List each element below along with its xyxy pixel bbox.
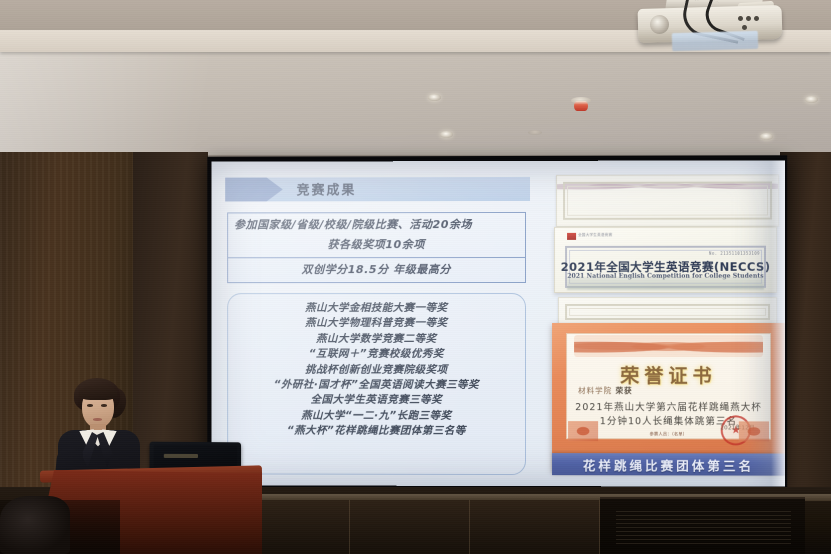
list-item: “外研社·国才杯”全国英语阅读大赛三等奖 bbox=[234, 378, 519, 394]
caption-text: 花样跳绳比赛团体第三名 bbox=[583, 455, 754, 474]
recessed-downlight bbox=[440, 131, 453, 138]
screen-right-washout bbox=[771, 160, 785, 486]
list-item: 全国大学生英语竞赛三等奖 bbox=[234, 393, 519, 409]
recessed-downlight bbox=[805, 96, 818, 103]
photo-scene: 竞赛成果 参加国家级/省级/校级/院级比赛、活动20余场 获各级奖项10余项 双… bbox=[0, 0, 831, 554]
honor-recipient: 材料学院 荣获 bbox=[578, 385, 633, 396]
slide-header-band: 竞赛成果 bbox=[231, 177, 530, 202]
ceiling-vent bbox=[528, 130, 542, 135]
summary-line-2: 获各级奖项10余项 bbox=[228, 237, 525, 257]
neccs-logo-icon bbox=[567, 233, 576, 240]
list-item: 燕山大学“一二·九”长跑三等奖 bbox=[234, 409, 519, 425]
awards-list: 燕山大学金相技能大赛一等奖 燕山大学物理科普竞赛一等奖 燕山大学数学竞赛二等奖 … bbox=[227, 293, 526, 475]
certificate-honor: 荣誉证书 材料学院 荣获 2021年燕山大学第六届花样跳绳燕大杯 1分钟10人长… bbox=[552, 323, 785, 472]
chevron-right-icon bbox=[225, 177, 283, 201]
recessed-downlight bbox=[428, 94, 441, 101]
list-item: 燕山大学物理科普竞赛一等奖 bbox=[234, 316, 519, 331]
smoke-detector-body bbox=[574, 101, 588, 111]
presenter-eye bbox=[101, 404, 107, 407]
honor-line-1: 2021年燕山大学第六届花样跳绳燕大杯 bbox=[552, 399, 785, 413]
list-item: 燕山大学数学竞赛二等奖 bbox=[234, 332, 519, 347]
slide-right-column: 全国大学生英语竞赛 No. 21351101353109 2021年全国大学生英… bbox=[542, 170, 773, 478]
wainscot-panel bbox=[470, 500, 600, 554]
neccs-number-value: 21351101353109 bbox=[720, 251, 760, 256]
certificate-inner-border-2 bbox=[569, 308, 766, 316]
summary-box: 参加国家级/省级/校级/院级比赛、活动20余场 获各级奖项10余项 双创学分18… bbox=[227, 212, 526, 283]
presenter-eye bbox=[87, 404, 93, 407]
honor-recipient-prefix: 材料学院 bbox=[578, 386, 612, 395]
neccs-number-label: No. bbox=[709, 251, 717, 256]
honor-recipient-suffix: 荣获 bbox=[616, 386, 633, 395]
smoke-detector bbox=[571, 97, 591, 114]
list-item: 挑战杯创新创业竞赛院级奖项 bbox=[234, 362, 519, 378]
wainscot-panel bbox=[350, 500, 470, 554]
certificate-inner-border-2 bbox=[567, 185, 768, 215]
projector-port bbox=[754, 16, 759, 21]
certificate-neccs: 全国大学生英语竞赛 No. 21351101353109 2021年全国大学生英… bbox=[554, 227, 777, 293]
laptop-badge bbox=[164, 454, 198, 458]
rear-dark-cabinet bbox=[600, 497, 805, 554]
ceiling-main-plane bbox=[0, 50, 831, 158]
list-item: “燕大杯”花样跳绳比赛团体第三名等 bbox=[234, 424, 519, 440]
projector-light-output bbox=[672, 31, 758, 51]
neccs-brand-text: 全国大学生英语竞赛 bbox=[578, 233, 612, 238]
presenter-mouth bbox=[93, 418, 102, 421]
projection-screen: 竞赛成果 参加国家级/省级/校级/院级比赛、活动20余场 获各级奖项10余项 双… bbox=[211, 160, 785, 486]
summary-line-1: 参加国家级/省级/校级/院级比赛、活动20余场 bbox=[228, 213, 525, 237]
slide-title: 竞赛成果 bbox=[297, 179, 357, 198]
list-item: 燕山大学金相技能大赛一等奖 bbox=[234, 301, 519, 316]
presenter-bangs bbox=[79, 385, 117, 400]
recessed-downlight bbox=[760, 133, 773, 140]
neccs-mount-shadow bbox=[567, 277, 764, 290]
slide-left-column: 竞赛成果 参加国家级/省级/校级/院级比赛、活动20余场 获各级奖项10余项 双… bbox=[223, 171, 542, 478]
foreground-chair bbox=[0, 496, 70, 554]
list-item: “互联网＋”竞赛校级优秀奖 bbox=[234, 347, 519, 363]
presentation-slide: 竞赛成果 参加国家级/省级/校级/院级比赛、活动20余场 获各级奖项10余项 双… bbox=[211, 160, 785, 486]
honor-ornament-band bbox=[574, 335, 763, 357]
certificate-stack: 全国大学生英语竞赛 No. 21351101353109 2021年全国大学生英… bbox=[552, 174, 785, 475]
caption-banner: 花样跳绳比赛团体第三名 bbox=[552, 453, 785, 476]
neccs-number: No. 21351101353109 bbox=[709, 251, 760, 256]
certificate-blank-top bbox=[556, 174, 779, 227]
honor-participants: 参赛人员：（名单） bbox=[570, 431, 767, 437]
ceiling-projector bbox=[620, 2, 790, 50]
summary-line-3: 双创学分18.5分 年级最高分 bbox=[228, 257, 525, 282]
